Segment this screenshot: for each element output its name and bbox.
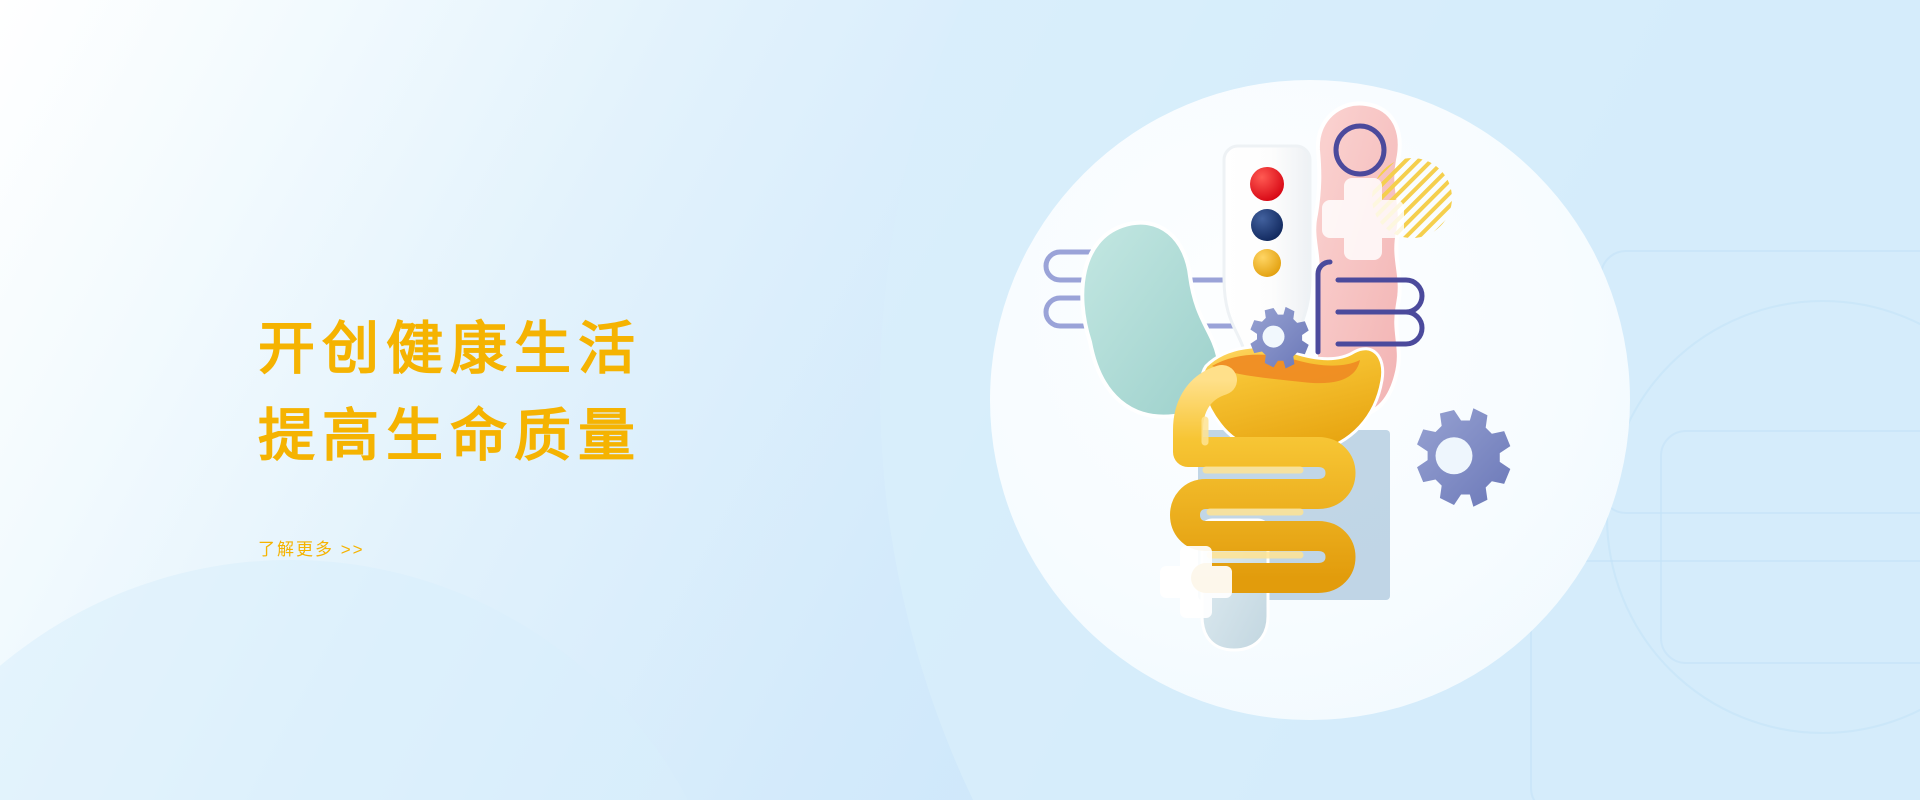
pill-dot-navy <box>1251 209 1283 241</box>
learn-more-link[interactable]: 了解更多 >> <box>258 535 365 560</box>
background-circle-bottom-left <box>0 560 740 800</box>
gear-large-icon <box>1417 408 1510 507</box>
hero-banner: 开创健康生活 提高生命质量 了解更多 >> <box>0 0 1920 800</box>
headline-line-1: 开创健康生活 <box>258 306 978 393</box>
pill-dot-yellow <box>1253 249 1281 277</box>
digestive-system-illustration <box>1000 80 1640 720</box>
headline-line-2: 提高生命质量 <box>258 393 978 480</box>
pill-dot-red <box>1250 167 1284 201</box>
hero-copy: 开创健康生活 提高生命质量 了解更多 >> <box>258 306 978 560</box>
